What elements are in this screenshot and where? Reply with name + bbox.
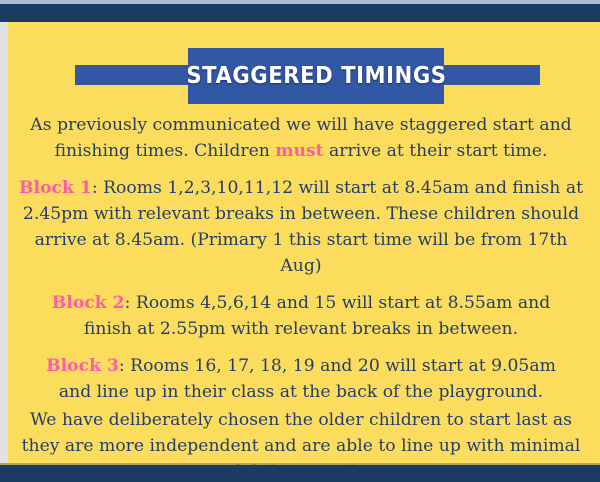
- block-1-text: : Rooms 1,2,3,10,11,12 will start at 8.4…: [23, 178, 583, 276]
- block-2-label: Block 2: [52, 293, 125, 313]
- staggered-timings-poster: STAGGERED TIMINGS As previously communic…: [0, 0, 600, 482]
- banner-box: STAGGERED TIMINGS: [188, 48, 444, 104]
- banner: STAGGERED TIMINGS: [0, 48, 600, 104]
- block-3-text: : Rooms 16, 17, 18, 19 and 20 will start…: [59, 356, 556, 402]
- block-1-paragraph: Block 1: Rooms 1,2,3,10,11,12 will start…: [8, 175, 594, 279]
- block-3-paragraph: Block 3: Rooms 16, 17, 18, 19 and 20 wil…: [8, 353, 594, 405]
- page-title: STAGGERED TIMINGS: [186, 63, 446, 89]
- bottom-navy-bar: [0, 465, 600, 482]
- block-2-text: : Rooms 4,5,6,14 and 15 will start at 8.…: [84, 293, 550, 339]
- body-copy: As previously communicated we will have …: [8, 112, 594, 482]
- block-1-label: Block 1: [19, 178, 92, 198]
- block-2-paragraph: Block 2: Rooms 4,5,6,14 and 15 will star…: [8, 290, 594, 342]
- intro-text-after: arrive at their start time.: [324, 141, 548, 161]
- block-3-label: Block 3: [46, 356, 119, 376]
- banner-wing-right: [438, 65, 540, 85]
- top-navy-bar: [0, 4, 600, 22]
- intro-paragraph: As previously communicated we will have …: [8, 112, 594, 164]
- intro-highlight-must: must: [275, 141, 323, 161]
- banner-wing-left: [75, 65, 193, 85]
